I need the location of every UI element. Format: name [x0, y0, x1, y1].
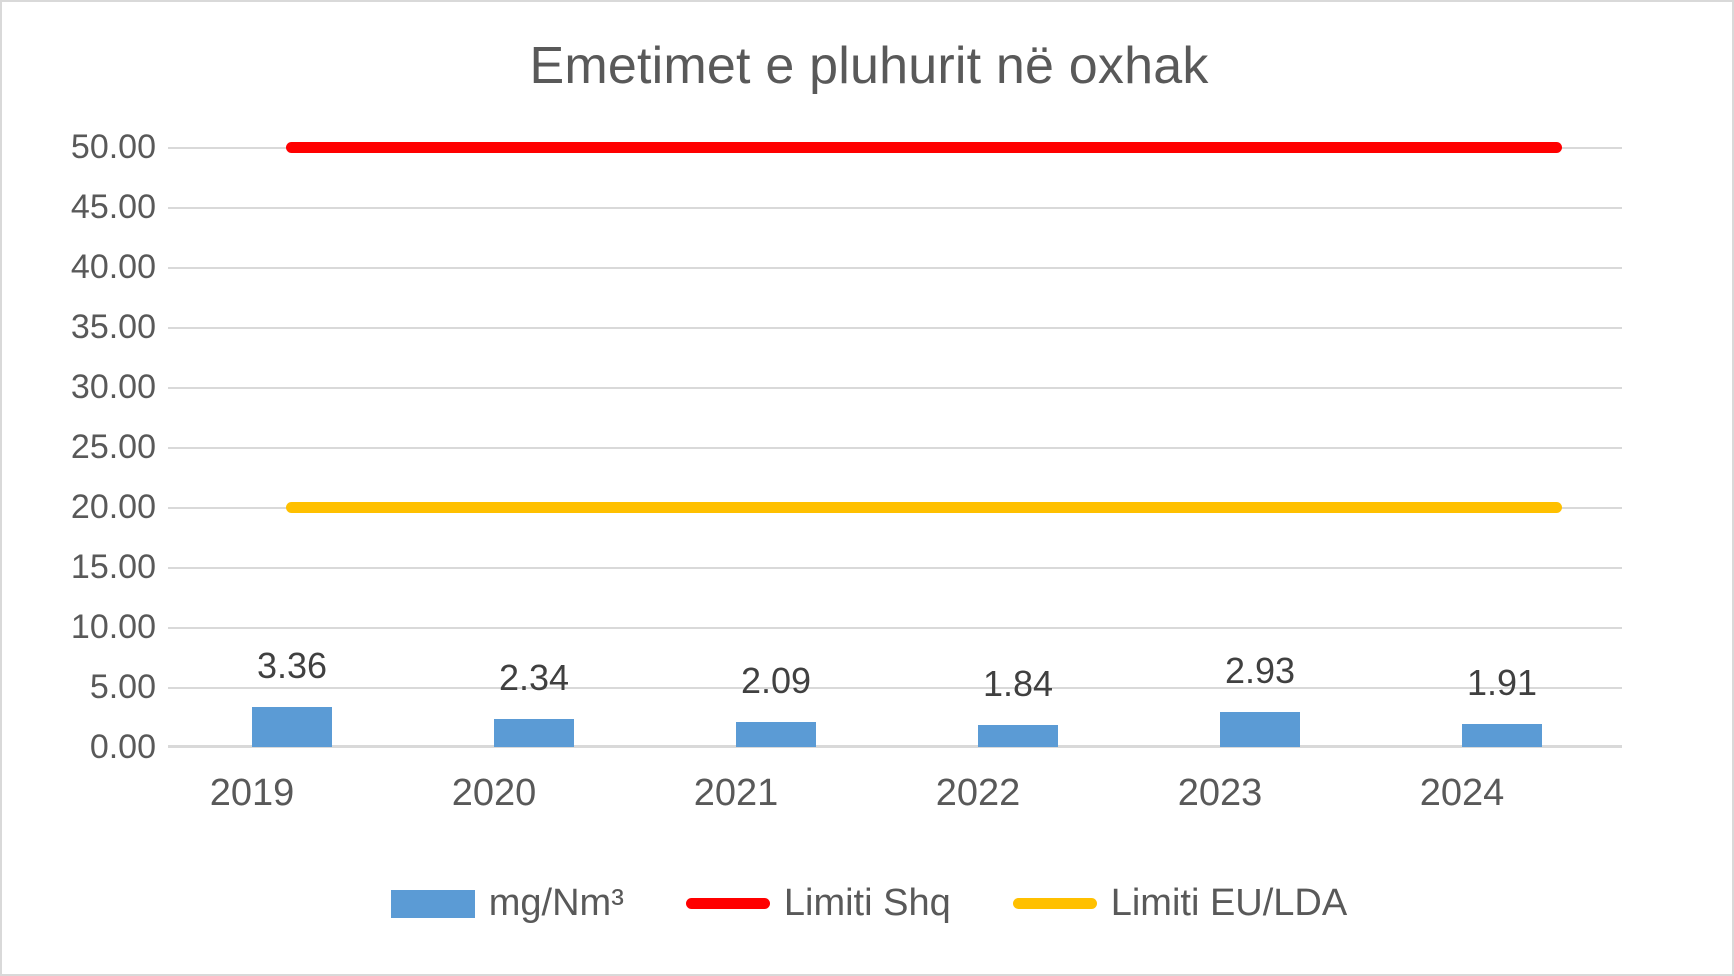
y-tick-label: 0.00: [24, 728, 156, 767]
bar-2024[interactable]: [1462, 724, 1542, 747]
x-axis-line: [168, 745, 1622, 748]
legend-label-limiti-eu-lda: Limiti EU/LDA: [1111, 882, 1348, 925]
limit-line-eu-lda[interactable]: [286, 502, 1562, 513]
bar-value-label-2019: 3.36: [212, 645, 372, 687]
y-tick-label: 15.00: [24, 548, 156, 587]
legend-item-limiti-eu-lda[interactable]: Limiti EU/LDA: [1013, 882, 1348, 925]
bar-2020[interactable]: [494, 719, 574, 747]
legend-label-limiti-shq: Limiti Shq: [784, 882, 951, 925]
bar-2021[interactable]: [736, 722, 816, 747]
gridline: [168, 267, 1622, 269]
x-tick-label-2022: 2022: [858, 772, 1098, 815]
bar-value-label-2023: 2.93: [1180, 650, 1340, 692]
plot-area: 3.36 2.34 2.09 1.84 2.93 1.91: [168, 147, 1622, 747]
bar-2022[interactable]: [978, 725, 1058, 747]
limit-line-shq[interactable]: [286, 142, 1562, 153]
x-tick-label-2021: 2021: [616, 772, 856, 815]
y-tick-label: 35.00: [24, 308, 156, 347]
bar-value-label-2021: 2.09: [696, 660, 856, 702]
chart-container: Emetimet e pluhurit në oxhak 50.00 45.00…: [0, 0, 1734, 976]
gridline: [168, 327, 1622, 329]
gridline: [168, 387, 1622, 389]
y-tick-label: 25.00: [24, 428, 156, 467]
legend-item-mg-nm3[interactable]: mg/Nm³: [391, 882, 624, 925]
gridline: [168, 207, 1622, 209]
chart-title: Emetimet e pluhurit në oxhak: [2, 36, 1734, 96]
gridline: [168, 447, 1622, 449]
y-tick-label: 30.00: [24, 368, 156, 407]
bar-2023[interactable]: [1220, 712, 1300, 747]
chart-legend: mg/Nm³ Limiti Shq Limiti EU/LDA: [2, 882, 1734, 925]
bar-value-label-2024: 1.91: [1422, 662, 1582, 704]
x-tick-label-2024: 2024: [1342, 772, 1582, 815]
x-tick-label-2019: 2019: [132, 772, 372, 815]
gridline: [168, 627, 1622, 629]
gridline: [168, 687, 1622, 689]
y-tick-label: 40.00: [24, 248, 156, 287]
y-tick-label: 20.00: [24, 488, 156, 527]
legend-line-swatch-yellow-icon: [1013, 898, 1097, 909]
legend-line-swatch-red-icon: [686, 898, 770, 909]
y-tick-label: 45.00: [24, 188, 156, 227]
bar-2019[interactable]: [252, 707, 332, 747]
x-tick-label-2020: 2020: [374, 772, 614, 815]
x-tick-label-2023: 2023: [1100, 772, 1340, 815]
y-tick-label: 5.00: [24, 668, 156, 707]
legend-item-limiti-shq[interactable]: Limiti Shq: [686, 882, 951, 925]
legend-bar-swatch-icon: [391, 890, 475, 918]
legend-label-mg-nm3: mg/Nm³: [489, 882, 624, 925]
bar-value-label-2022: 1.84: [938, 663, 1098, 705]
gridline: [168, 567, 1622, 569]
y-tick-label: 10.00: [24, 608, 156, 647]
bar-value-label-2020: 2.34: [454, 657, 614, 699]
y-tick-label: 50.00: [24, 128, 156, 167]
